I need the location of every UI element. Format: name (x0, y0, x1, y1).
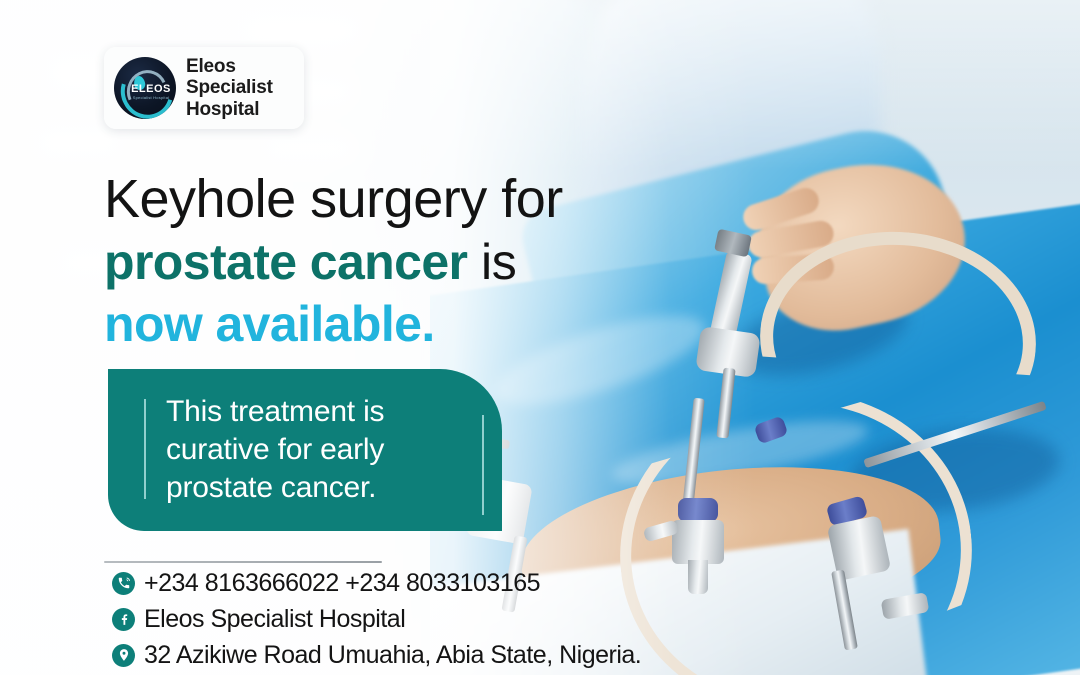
headline-line-1: Keyhole surgery for (104, 172, 664, 226)
headline-text-keyhole: Keyhole surgery for (104, 169, 563, 229)
facebook-page-name: Eleos Specialist Hospital (144, 605, 405, 634)
phone-icon (112, 572, 135, 595)
hospital-name: Eleos Specialist Hospital (186, 56, 273, 121)
ceiling-light-panel (242, 16, 362, 46)
callout-accent-bar-right (482, 415, 484, 515)
contact-row-location[interactable]: 32 Azikiwe Road Umuahia, Abia State, Nig… (112, 640, 641, 670)
advertisement-poster: ELEOS Specialist Hospital Eleos Speciali… (0, 0, 1080, 675)
hospital-name-line1: Eleos (186, 56, 273, 78)
hospital-name-line2: Specialist (186, 77, 273, 99)
eleos-logo-icon: ELEOS Specialist Hospital (114, 57, 176, 119)
contact-row-phone[interactable]: +234 8163666022 +234 8033103165 (112, 568, 641, 598)
headline-emphasis-now-available: now available. (104, 296, 435, 352)
contact-block: +234 8163666022 +234 8033103165 Eleos Sp… (112, 568, 641, 670)
callout-box: This treatment is curative for early pro… (108, 369, 502, 531)
hospital-name-line3: Hospital (186, 99, 273, 121)
contact-row-facebook[interactable]: Eleos Specialist Hospital (112, 604, 641, 634)
logo-wordmark: ELEOS (128, 83, 174, 95)
callout-accent-bar-left (144, 399, 146, 499)
facebook-icon (112, 608, 135, 631)
trocar-blue-cap (678, 498, 718, 522)
trocar-tip (688, 560, 708, 594)
contact-divider (104, 561, 382, 563)
trocar-body (672, 520, 724, 564)
logo-card: ELEOS Specialist Hospital Eleos Speciali… (104, 47, 304, 129)
ceiling-light-panel (262, 136, 358, 162)
headline-line-3: now available. (104, 299, 664, 349)
street-address: 32 Azikiwe Road Umuahia, Abia State, Nig… (144, 641, 641, 670)
headline-emphasis-prostate-cancer: prostate cancer (104, 234, 467, 290)
callout-text: This treatment is curative for early pro… (166, 393, 466, 506)
ceiling-light-panel (36, 128, 122, 158)
logo-tagline: Specialist Hospital (128, 95, 174, 100)
headline-line-2: prostate cancer is (104, 237, 664, 287)
location-icon (112, 644, 135, 667)
phone-numbers: +234 8163666022 +234 8033103165 (144, 569, 540, 598)
headline-text-is: is (467, 234, 516, 290)
headline-block: Keyhole surgery for prostate cancer is n… (104, 172, 664, 349)
